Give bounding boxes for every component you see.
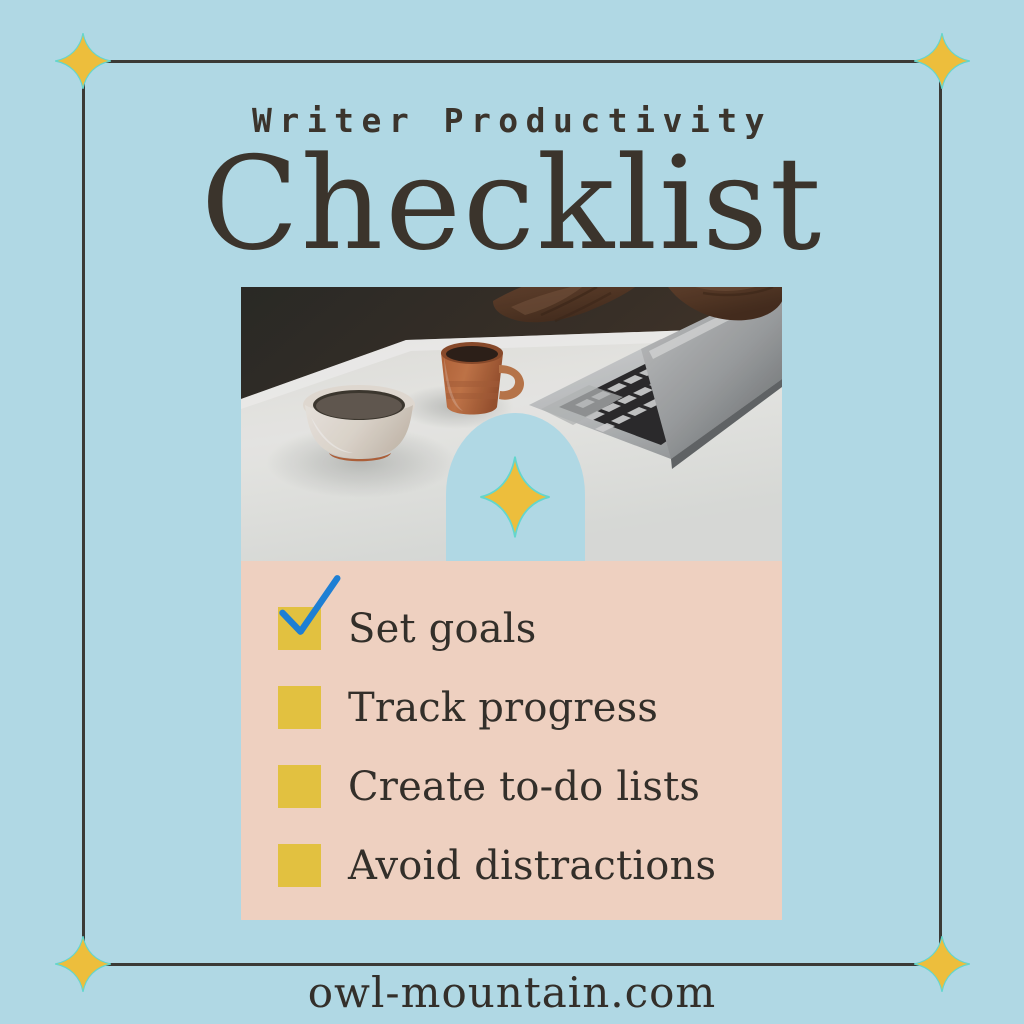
list-item[interactable]: Create to-do lists — [278, 747, 758, 826]
checkbox-create-to-do-lists[interactable] — [278, 765, 321, 808]
page-title: Checklist — [0, 138, 1024, 272]
footer-website-url[interactable]: owl-mountain.com — [0, 968, 1024, 1017]
list-item[interactable]: Track progress — [278, 668, 758, 747]
four-point-star-icon-arch — [479, 455, 551, 539]
checklist: Set goals Track progress Create to-do li… — [278, 589, 758, 905]
list-item[interactable]: Avoid distractions — [278, 826, 758, 905]
list-item[interactable]: Set goals — [278, 589, 758, 668]
four-point-star-icon-top-right — [913, 32, 971, 90]
list-item-label: Create to-do lists — [348, 764, 700, 810]
list-item-label: Track progress — [348, 685, 658, 731]
list-item-label: Avoid distractions — [348, 843, 716, 889]
frame-line-bottom — [82, 963, 942, 966]
poster-canvas: Writer Productivity Checklist — [0, 0, 1024, 1024]
checkbox-track-progress[interactable] — [278, 686, 321, 729]
checkbox-avoid-distractions[interactable] — [278, 844, 321, 887]
frame-line-top — [82, 60, 942, 63]
four-point-star-icon-top-left — [54, 32, 112, 90]
checkbox-set-goals[interactable] — [278, 607, 321, 650]
list-item-label: Set goals — [348, 606, 537, 652]
